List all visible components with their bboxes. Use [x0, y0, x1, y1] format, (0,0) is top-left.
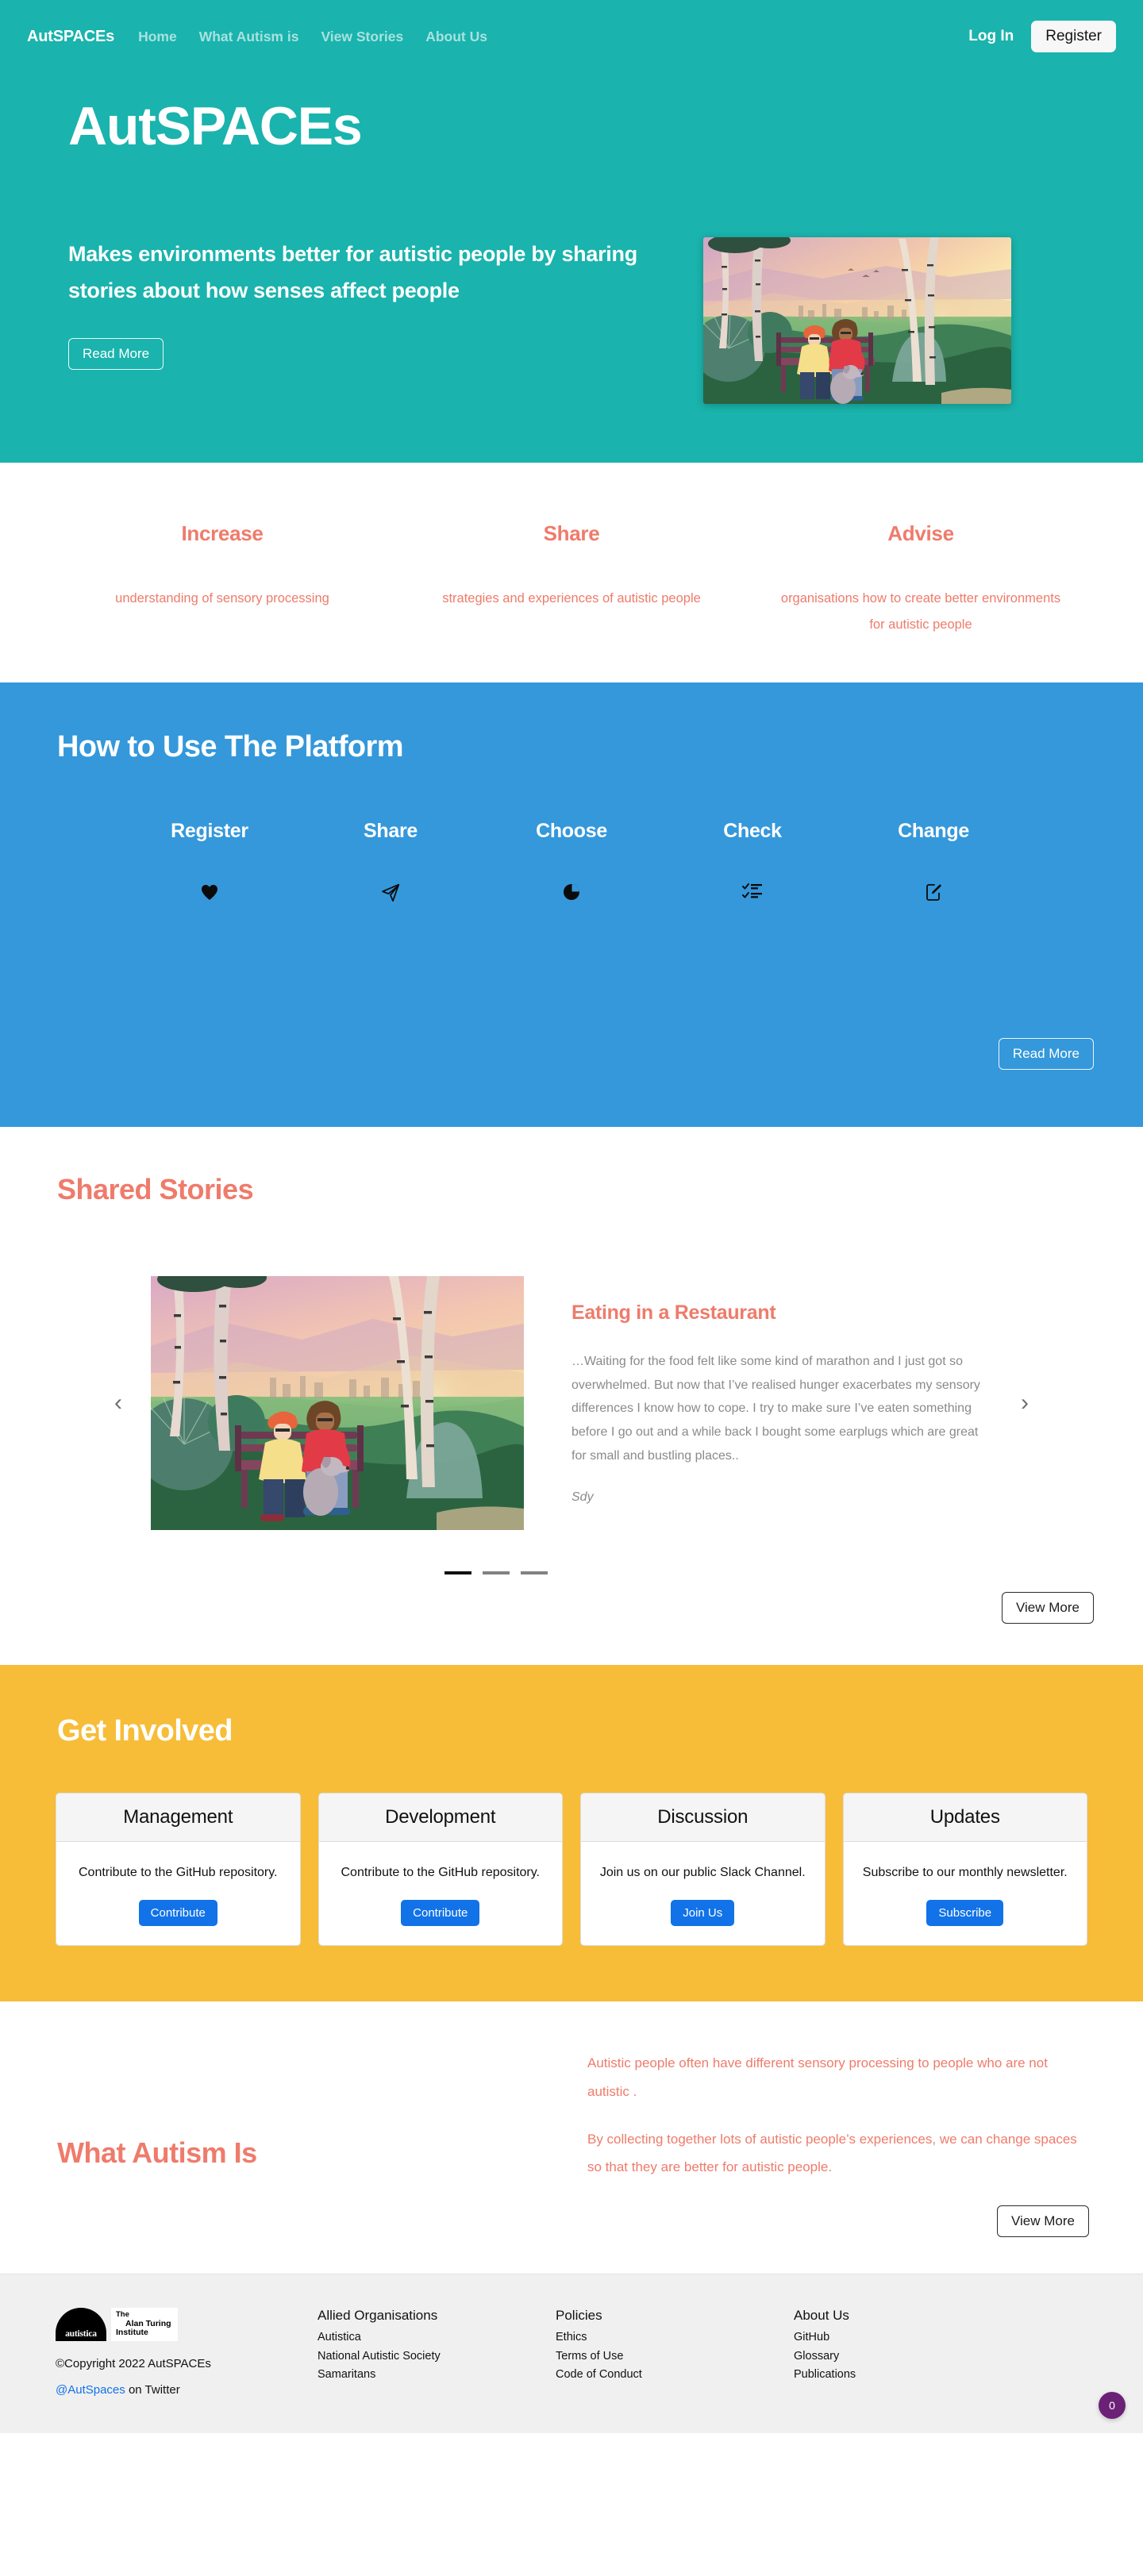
card-action-button[interactable]: Join Us: [671, 1900, 734, 1926]
autism-view-more-button[interactable]: View More: [997, 2205, 1089, 2237]
pie-chart-icon: [562, 882, 581, 902]
nav-item-home[interactable]: Home: [138, 29, 177, 45]
carousel-indicator-2[interactable]: [483, 1571, 510, 1574]
footer-column-policies: Policies Ethics Terms of Use Code of Con…: [556, 2308, 794, 2397]
step-label: Share: [300, 820, 481, 843]
story-thumbnail[interactable]: [151, 1276, 524, 1530]
page-title: AutSPACEs: [68, 97, 1075, 156]
login-link[interactable]: Log In: [968, 28, 1014, 45]
card-title: Updates: [844, 1794, 1087, 1842]
card-action-button[interactable]: Contribute: [401, 1900, 479, 1926]
hero-read-more-button[interactable]: Read More: [68, 338, 164, 370]
step-choose: Choose: [481, 820, 662, 903]
shared-stories-section: Shared Stories ‹: [0, 1127, 1143, 1665]
footer-brand: autistica The Alan Turing Institute ©Cop…: [56, 2308, 317, 2397]
brand-logo[interactable]: AutSPACEs: [27, 28, 114, 46]
hero-section: AutSPACEs Makes environments better for …: [0, 73, 1143, 463]
value-prop-title: Share: [424, 521, 719, 546]
footer-link-autistica[interactable]: Autistica: [317, 2328, 556, 2347]
what-autism-is-section: What Autism Is Autistic people often hav…: [0, 2001, 1143, 2274]
footer-column-about-us: About Us GitHub Glossary Publications: [794, 2308, 968, 2397]
value-prop-advise: Advise organisations how to create bette…: [746, 521, 1095, 638]
stories-carousel: ‹: [0, 1276, 1143, 1530]
howto-read-more-button[interactable]: Read More: [999, 1038, 1094, 1070]
get-involved-title: Get Involved: [0, 1714, 1143, 1748]
carousel-indicator-3[interactable]: [521, 1571, 548, 1574]
what-autism-is-paragraph-2: By collecting together lots of autistic …: [587, 2125, 1089, 2182]
what-autism-is-paragraph-1: Autistic people often have different sen…: [587, 2049, 1089, 2105]
story-excerpt: …Waiting for the food felt like some kin…: [571, 1350, 994, 1468]
nav-item-about-us[interactable]: About Us: [425, 29, 487, 45]
card-updates: Updates Subscribe to our monthly newslet…: [843, 1793, 1088, 1947]
how-to-use-title: How to Use The Platform: [0, 730, 1143, 764]
step-share: Share: [300, 820, 481, 903]
card-development: Development Contribute to the GitHub rep…: [318, 1793, 564, 1947]
footer-link-national-autistic-society[interactable]: National Autistic Society: [317, 2347, 556, 2366]
step-register: Register: [119, 820, 300, 903]
value-prop-body: organisations how to create better envir…: [773, 586, 1068, 638]
footer-link-terms-of-use[interactable]: Terms of Use: [556, 2347, 794, 2366]
value-prop-title: Increase: [75, 521, 370, 546]
card-text: Contribute to the GitHub repository.: [337, 1863, 545, 1883]
autistica-logo-icon: autistica: [56, 2308, 106, 2341]
carousel-next-button[interactable]: ›: [1010, 1385, 1040, 1421]
footer-link-samaritans[interactable]: Samaritans: [317, 2366, 556, 2384]
checklist-icon: [742, 882, 763, 900]
paper-plane-icon: [380, 882, 401, 903]
footer-link-publications[interactable]: Publications: [794, 2366, 968, 2384]
nav-links: Home What Autism is View Stories About U…: [138, 29, 487, 45]
twitter-line: @AutSpaces on Twitter: [56, 2383, 317, 2397]
value-prop-body: strategies and experiences of autistic p…: [424, 586, 719, 612]
park-bench-illustration-svg: [151, 1276, 524, 1530]
how-to-use-steps: Register Share Choose Check: [0, 820, 1143, 903]
card-discussion: Discussion Join us on our public Slack C…: [580, 1793, 825, 1947]
card-text: Contribute to the GitHub repository.: [74, 1863, 283, 1883]
card-action-button[interactable]: Contribute: [139, 1900, 217, 1926]
footer-column-allied-organisations: Allied Organisations Autistica National …: [317, 2308, 556, 2397]
what-autism-is-body: Autistic people often have different sen…: [587, 2049, 1143, 2237]
card-title: Development: [319, 1794, 563, 1842]
chat-notification-badge[interactable]: 0: [1099, 2392, 1126, 2419]
step-check: Check: [662, 820, 843, 903]
card-action-button[interactable]: Subscribe: [926, 1900, 1003, 1926]
card-title: Discussion: [581, 1794, 825, 1842]
nav-auth-group: Log In Register: [968, 21, 1116, 52]
step-label: Choose: [481, 820, 662, 843]
what-autism-is-heading-wrap: What Autism Is: [0, 2049, 587, 2170]
autistica-logo-text: autistica: [65, 2329, 97, 2339]
footer-column-title: About Us: [794, 2308, 968, 2324]
what-autism-is-title: What Autism Is: [57, 2136, 587, 2170]
shared-stories-title: Shared Stories: [0, 1173, 1143, 1206]
heart-icon: [200, 882, 219, 902]
value-prop-share: Share strategies and experiences of auti…: [397, 521, 746, 638]
register-button[interactable]: Register: [1031, 21, 1116, 52]
site-footer: autistica The Alan Turing Institute ©Cop…: [0, 2274, 1143, 2433]
how-to-use-cta-wrap: Read More: [999, 1038, 1094, 1070]
footer-column-title: Allied Organisations: [317, 2308, 556, 2324]
card-management: Management Contribute to the GitHub repo…: [56, 1793, 301, 1947]
nav-item-view-stories[interactable]: View Stories: [321, 29, 403, 45]
value-prop-increase: Increase understanding of sensory proces…: [48, 521, 397, 638]
step-label: Check: [662, 820, 843, 843]
stories-cta-wrap: View More: [0, 1592, 1143, 1624]
carousel-indicator-1[interactable]: [444, 1571, 471, 1574]
copyright-text: ©Copyright 2022 AutSPACEs: [56, 2357, 317, 2370]
footer-link-glossary[interactable]: Glossary: [794, 2347, 968, 2366]
step-change: Change: [843, 820, 1024, 903]
alan-turing-institute-logo-icon: The Alan Turing Institute: [111, 2308, 178, 2341]
hero-subtitle: Makes environments better for autistic p…: [68, 236, 672, 310]
nav-item-what-autism-is[interactable]: What Autism is: [199, 29, 299, 45]
value-prop-title: Advise: [773, 521, 1068, 546]
footer-link-ethics[interactable]: Ethics: [556, 2328, 794, 2347]
carousel-indicators: [0, 1571, 1143, 1574]
twitter-suffix: on Twitter: [125, 2383, 180, 2397]
story-title: Eating in a Restaurant: [571, 1301, 994, 1325]
twitter-handle-link[interactable]: @AutSpaces: [56, 2383, 125, 2397]
footer-logos: autistica The Alan Turing Institute: [56, 2308, 317, 2341]
card-text: Subscribe to our monthly newsletter.: [861, 1863, 1070, 1883]
top-navbar: AutSPACEs Home What Autism is View Stori…: [0, 0, 1143, 73]
edit-pen-icon: [924, 882, 943, 902]
stories-view-more-button[interactable]: View More: [1002, 1592, 1094, 1624]
hero-illustration: [703, 237, 1011, 404]
story-author: Sdy: [571, 1490, 994, 1505]
card-title: Management: [56, 1794, 300, 1842]
footer-link-code-of-conduct[interactable]: Code of Conduct: [556, 2366, 794, 2384]
get-involved-section: Get Involved Management Contribute to th…: [0, 1665, 1143, 2002]
how-to-use-section: How to Use The Platform Register Share C…: [0, 682, 1143, 1127]
step-label: Change: [843, 820, 1024, 843]
value-props-section: Increase understanding of sensory proces…: [0, 463, 1143, 682]
turing-logo-line-3: Institute: [116, 2328, 171, 2338]
carousel-prev-button[interactable]: ‹: [103, 1385, 133, 1421]
value-prop-body: understanding of sensory processing: [75, 586, 370, 612]
footer-column-title: Policies: [556, 2308, 794, 2324]
card-text: Join us on our public Slack Channel.: [598, 1863, 807, 1883]
step-label: Register: [119, 820, 300, 843]
story-content: Eating in a Restaurant …Waiting for the …: [524, 1301, 1010, 1505]
park-bench-illustration-svg: [703, 237, 1011, 404]
get-involved-cards: Management Contribute to the GitHub repo…: [0, 1793, 1143, 1947]
footer-link-github[interactable]: GitHub: [794, 2328, 968, 2347]
